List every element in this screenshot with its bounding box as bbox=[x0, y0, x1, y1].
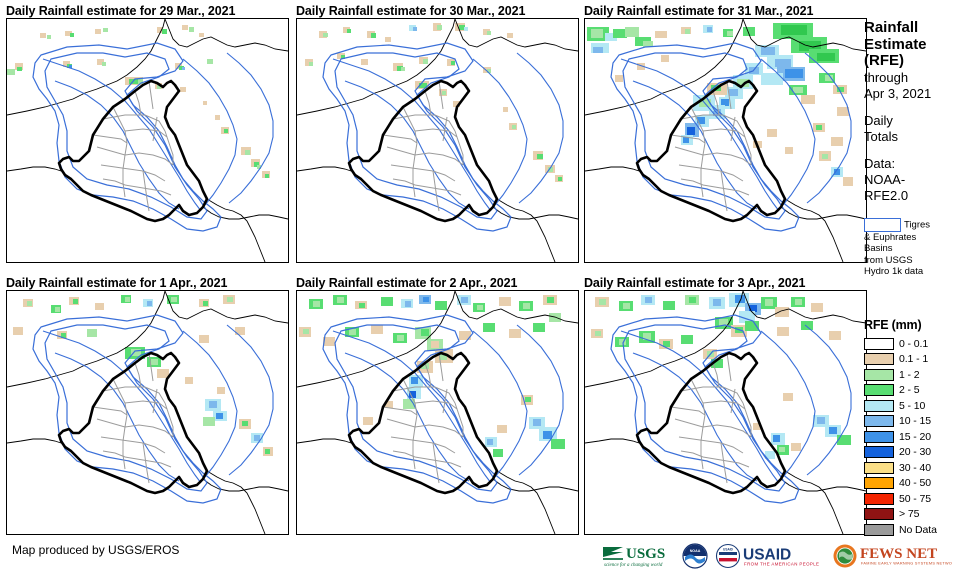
legend-row: 0.1 - 1 bbox=[864, 352, 967, 367]
map-svg bbox=[297, 291, 578, 534]
legend-row: 10 - 15 bbox=[864, 414, 967, 429]
map-panel-30-mar: Daily Rainfall estimate for 30 Mar., 202… bbox=[290, 4, 579, 263]
legend-swatch bbox=[864, 338, 894, 350]
info-data-line1: Data: bbox=[864, 156, 967, 172]
legend-label: 1 - 2 bbox=[899, 369, 920, 381]
info-through-date: Apr 3, 2021 bbox=[864, 86, 967, 102]
legend-label: No Data bbox=[899, 524, 937, 536]
legend-swatch bbox=[864, 446, 894, 458]
usaid-logo[interactable]: USAID USAID FROM THE AMERICAN PEOPLE bbox=[715, 543, 825, 569]
fewsnet-logo[interactable]: FEWS NET FAMINE EARLY WARNING SYSTEMS NE… bbox=[832, 543, 952, 569]
usgs-logo[interactable]: USGS science for a changing world bbox=[601, 543, 675, 569]
svg-text:science for a changing world: science for a changing world bbox=[604, 563, 663, 568]
svg-text:FAMINE EARLY WARNING SYSTEMS N: FAMINE EARLY WARNING SYSTEMS NETWORK bbox=[861, 562, 952, 566]
legend-row: 50 - 75 bbox=[864, 491, 967, 506]
legend-swatch bbox=[864, 415, 894, 427]
panel-title: Daily Rainfall estimate for 1 Apr., 2021 bbox=[0, 276, 289, 290]
legend-label: 2 - 5 bbox=[899, 384, 920, 396]
info-column: Rainfall Estimate (RFE) through Apr 3, 2… bbox=[864, 20, 967, 278]
legend-label: 50 - 75 bbox=[899, 493, 931, 505]
rfe-legend: RFE (mm) 0 - 0.10.1 - 11 - 22 - 55 - 101… bbox=[864, 318, 967, 538]
legend-label: 15 - 20 bbox=[899, 431, 931, 443]
legend-title: RFE (mm) bbox=[864, 318, 967, 332]
legend-swatch bbox=[864, 462, 894, 474]
legend-row: 0 - 0.1 bbox=[864, 336, 967, 351]
map-canvas[interactable] bbox=[296, 18, 579, 263]
panel-title: Daily Rainfall estimate for 29 Mar., 202… bbox=[0, 4, 289, 18]
svg-text:NOAA: NOAA bbox=[690, 549, 701, 553]
legend-label: 0.1 - 1 bbox=[899, 353, 928, 365]
info-title-line1: Rainfall bbox=[864, 20, 967, 37]
map-panel-3-apr: Daily Rainfall estimate for 3 Apr., 2021 bbox=[578, 276, 867, 535]
legend-swatch bbox=[864, 493, 894, 505]
legend-row: > 75 bbox=[864, 507, 967, 522]
legend-row: 2 - 5 bbox=[864, 383, 967, 398]
map-canvas[interactable] bbox=[296, 290, 579, 535]
legend-row: 15 - 20 bbox=[864, 429, 967, 444]
legend-row: 20 - 30 bbox=[864, 445, 967, 460]
svg-text:FEWS NET: FEWS NET bbox=[860, 546, 937, 562]
legend-label: 30 - 40 bbox=[899, 462, 931, 474]
legend-label: > 75 bbox=[899, 508, 919, 520]
svg-text:USAID: USAID bbox=[723, 548, 734, 552]
basin-label-2: & Euphrates bbox=[864, 232, 967, 244]
info-title-line2: Estimate bbox=[864, 37, 967, 54]
legend-row: 1 - 2 bbox=[864, 367, 967, 382]
map-panel-29-mar: Daily Rainfall estimate for 29 Mar., 202… bbox=[0, 4, 289, 263]
agency-logos: USGS science for a changing world NOAA U… bbox=[601, 541, 952, 571]
info-through: through bbox=[864, 70, 967, 86]
info-title-line3: (RFE) bbox=[864, 53, 967, 70]
legend-label: 20 - 30 bbox=[899, 446, 931, 458]
legend-swatch bbox=[864, 384, 894, 396]
svg-text:USGS: USGS bbox=[626, 546, 665, 562]
map-svg bbox=[7, 291, 288, 534]
noaa-logo[interactable]: NOAA bbox=[682, 543, 708, 569]
legend-row: No Data bbox=[864, 522, 967, 537]
map-canvas[interactable] bbox=[584, 18, 867, 263]
info-data-line2: NOAA- bbox=[864, 172, 967, 188]
map-svg bbox=[7, 19, 288, 262]
legend-rows: 0 - 0.10.1 - 11 - 22 - 55 - 1010 - 1515 … bbox=[864, 336, 967, 537]
legend-label: 5 - 10 bbox=[899, 400, 925, 412]
legend-swatch bbox=[864, 369, 894, 381]
map-canvas[interactable] bbox=[6, 18, 289, 263]
basin-swatch bbox=[864, 218, 901, 232]
panel-title: Daily Rainfall estimate for 31 Mar., 202… bbox=[578, 4, 867, 18]
info-totals-line1: Daily bbox=[864, 113, 967, 129]
basin-label-1: Tigres bbox=[904, 219, 930, 230]
map-svg bbox=[297, 19, 578, 262]
legend-swatch bbox=[864, 508, 894, 520]
legend-row: 40 - 50 bbox=[864, 476, 967, 491]
info-data-source: Data: NOAA- RFE2.0 bbox=[864, 156, 967, 204]
info-totals: Daily Totals bbox=[864, 113, 967, 145]
legend-label: 0 - 0.1 bbox=[899, 338, 928, 350]
info-data-line3: RFE2.0 bbox=[864, 188, 967, 204]
map-canvas[interactable] bbox=[584, 290, 867, 535]
map-panel-2-apr: Daily Rainfall estimate for 2 Apr., 2021 bbox=[290, 276, 579, 535]
legend-label: 40 - 50 bbox=[899, 477, 931, 489]
map-canvas[interactable] bbox=[6, 290, 289, 535]
panel-title: Daily Rainfall estimate for 30 Mar., 202… bbox=[290, 4, 579, 18]
legend-swatch bbox=[864, 477, 894, 489]
map-svg bbox=[585, 291, 866, 534]
legend-row: 30 - 40 bbox=[864, 460, 967, 475]
panel-title: Daily Rainfall estimate for 2 Apr., 2021 bbox=[290, 276, 579, 290]
svg-text:FROM THE AMERICAN PEOPLE: FROM THE AMERICAN PEOPLE bbox=[744, 562, 819, 567]
map-credit: Map produced by USGS/EROS bbox=[12, 543, 179, 557]
legend-swatch bbox=[864, 431, 894, 443]
basin-label-4: from USGS bbox=[864, 255, 967, 267]
basin-label-3: Basins bbox=[864, 243, 967, 255]
basin-legend: Tigres & Euphrates Basins from USGS Hydr… bbox=[864, 218, 967, 278]
legend-label: 10 - 15 bbox=[899, 415, 931, 427]
map-panel-31-mar: Daily Rainfall estimate for 31 Mar., 202… bbox=[578, 4, 867, 263]
legend-row: 5 - 10 bbox=[864, 398, 967, 413]
basin-label-5: Hydro 1k data bbox=[864, 266, 967, 278]
info-totals-line2: Totals bbox=[864, 129, 967, 145]
legend-swatch bbox=[864, 353, 894, 365]
map-panel-1-apr: Daily Rainfall estimate for 1 Apr., 2021 bbox=[0, 276, 289, 535]
map-svg bbox=[585, 19, 866, 262]
legend-swatch bbox=[864, 524, 894, 536]
panel-title: Daily Rainfall estimate for 3 Apr., 2021 bbox=[578, 276, 867, 290]
legend-swatch bbox=[864, 400, 894, 412]
